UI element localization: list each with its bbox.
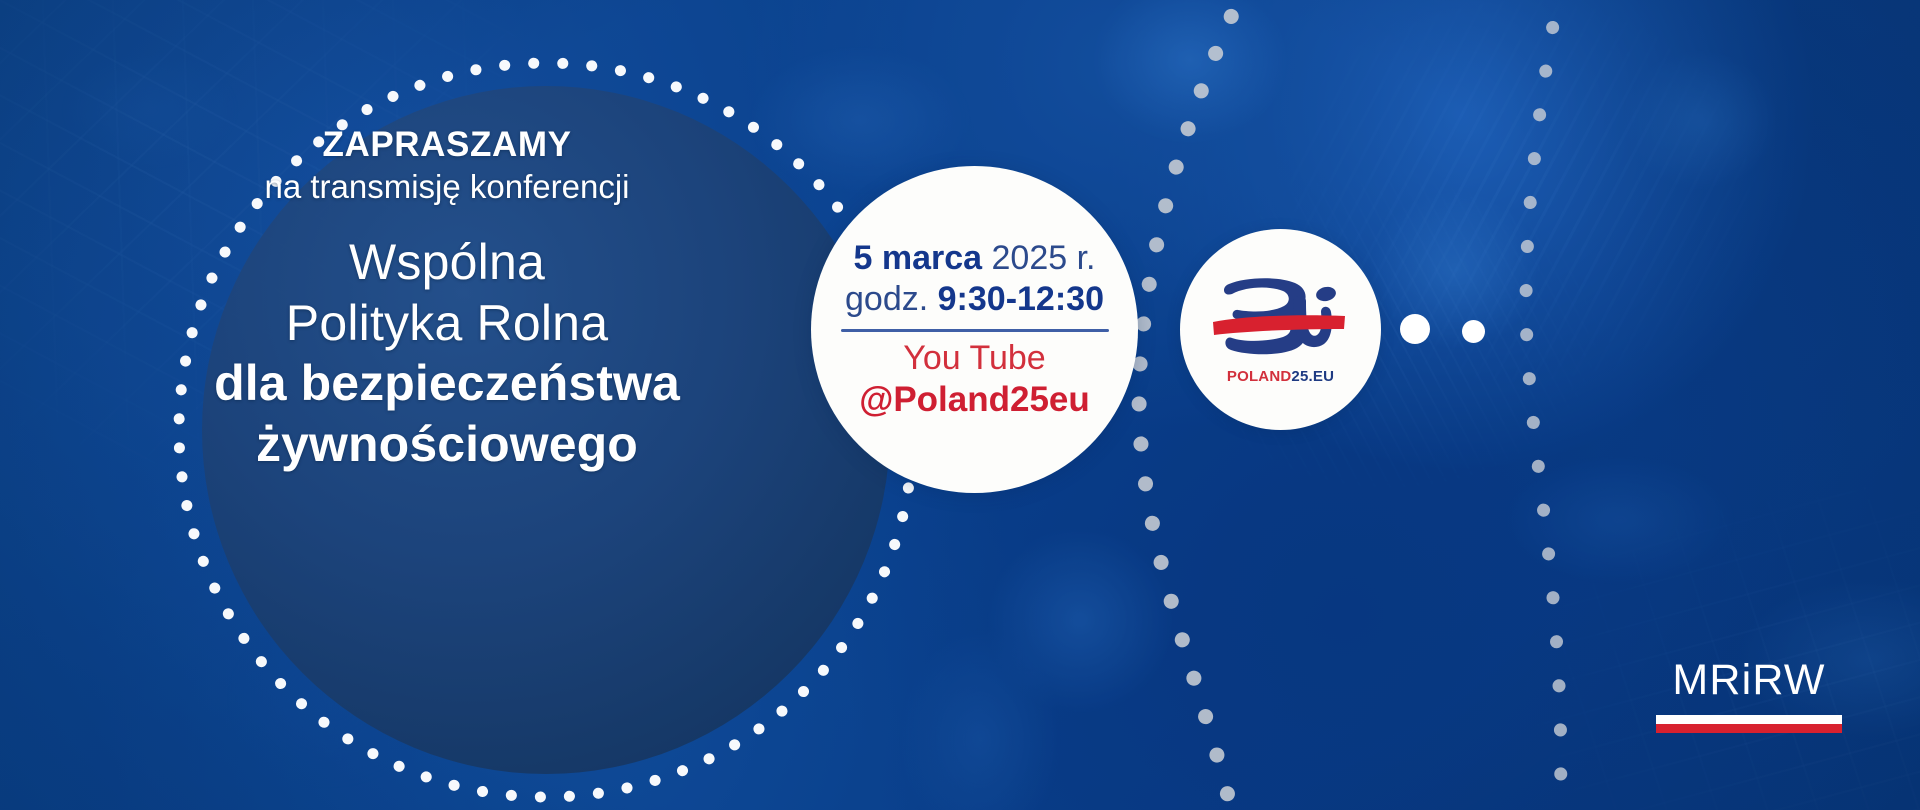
conference-title-line-3: dla bezpieczeństwa <box>152 353 742 414</box>
event-date-year: 2025 r. <box>992 239 1096 277</box>
event-date-day: 5 marca <box>854 239 983 277</box>
eu-caption-primary: POLAND <box>1227 368 1292 385</box>
eu-brush-logo-icon <box>1205 274 1357 366</box>
eu-caption-tld: .EU <box>1309 368 1335 385</box>
details-divider <box>841 329 1109 332</box>
invitation-copy: ZAPRASZAMY na transmisję konferencji Wsp… <box>152 126 742 474</box>
broadcast-handle[interactable]: @Poland25eu <box>836 380 1114 421</box>
broadcast-details-circle: 5 marca 2025 r. godz. 9:30-12:30 You Tub… <box>811 166 1138 493</box>
event-time-label: godz. <box>845 280 928 318</box>
eu-caption-number: 25 <box>1291 368 1308 385</box>
event-time-value: 9:30-12:30 <box>938 280 1104 318</box>
poland-flag-bar <box>1656 715 1842 733</box>
ministry-acronym: MRiRW <box>1656 659 1842 702</box>
invitation-subkicker: na transmisję konferencji <box>152 169 742 206</box>
conference-title-line-1: Wspólna <box>152 232 742 293</box>
event-time-line: godz. 9:30-12:30 <box>836 280 1114 320</box>
event-date-line: 5 marca 2025 r. <box>836 239 1114 279</box>
invitation-kicker: ZAPRASZAMY <box>152 126 742 163</box>
conference-title: Wspólna Polityka Rolna dla bezpieczeństw… <box>152 232 742 474</box>
trailing-dot-small <box>1462 320 1485 343</box>
conference-title-line-2: Polityka Rolna <box>152 293 742 354</box>
eu-logo-caption: POLAND25.EU <box>1227 368 1334 385</box>
trailing-dot-large <box>1400 314 1430 344</box>
ministry-logo: MRiRW <box>1656 659 1842 733</box>
conference-title-line-4: żywnościowego <box>152 414 742 475</box>
conference-invitation-banner: ZAPRASZAMY na transmisję konferencji Wsp… <box>0 0 1920 810</box>
broadcast-channel: You Tube <box>836 339 1114 378</box>
eu-presidency-logo-circle: POLAND25.EU <box>1180 229 1381 430</box>
broadcast-details: 5 marca 2025 r. godz. 9:30-12:30 You Tub… <box>836 239 1114 421</box>
